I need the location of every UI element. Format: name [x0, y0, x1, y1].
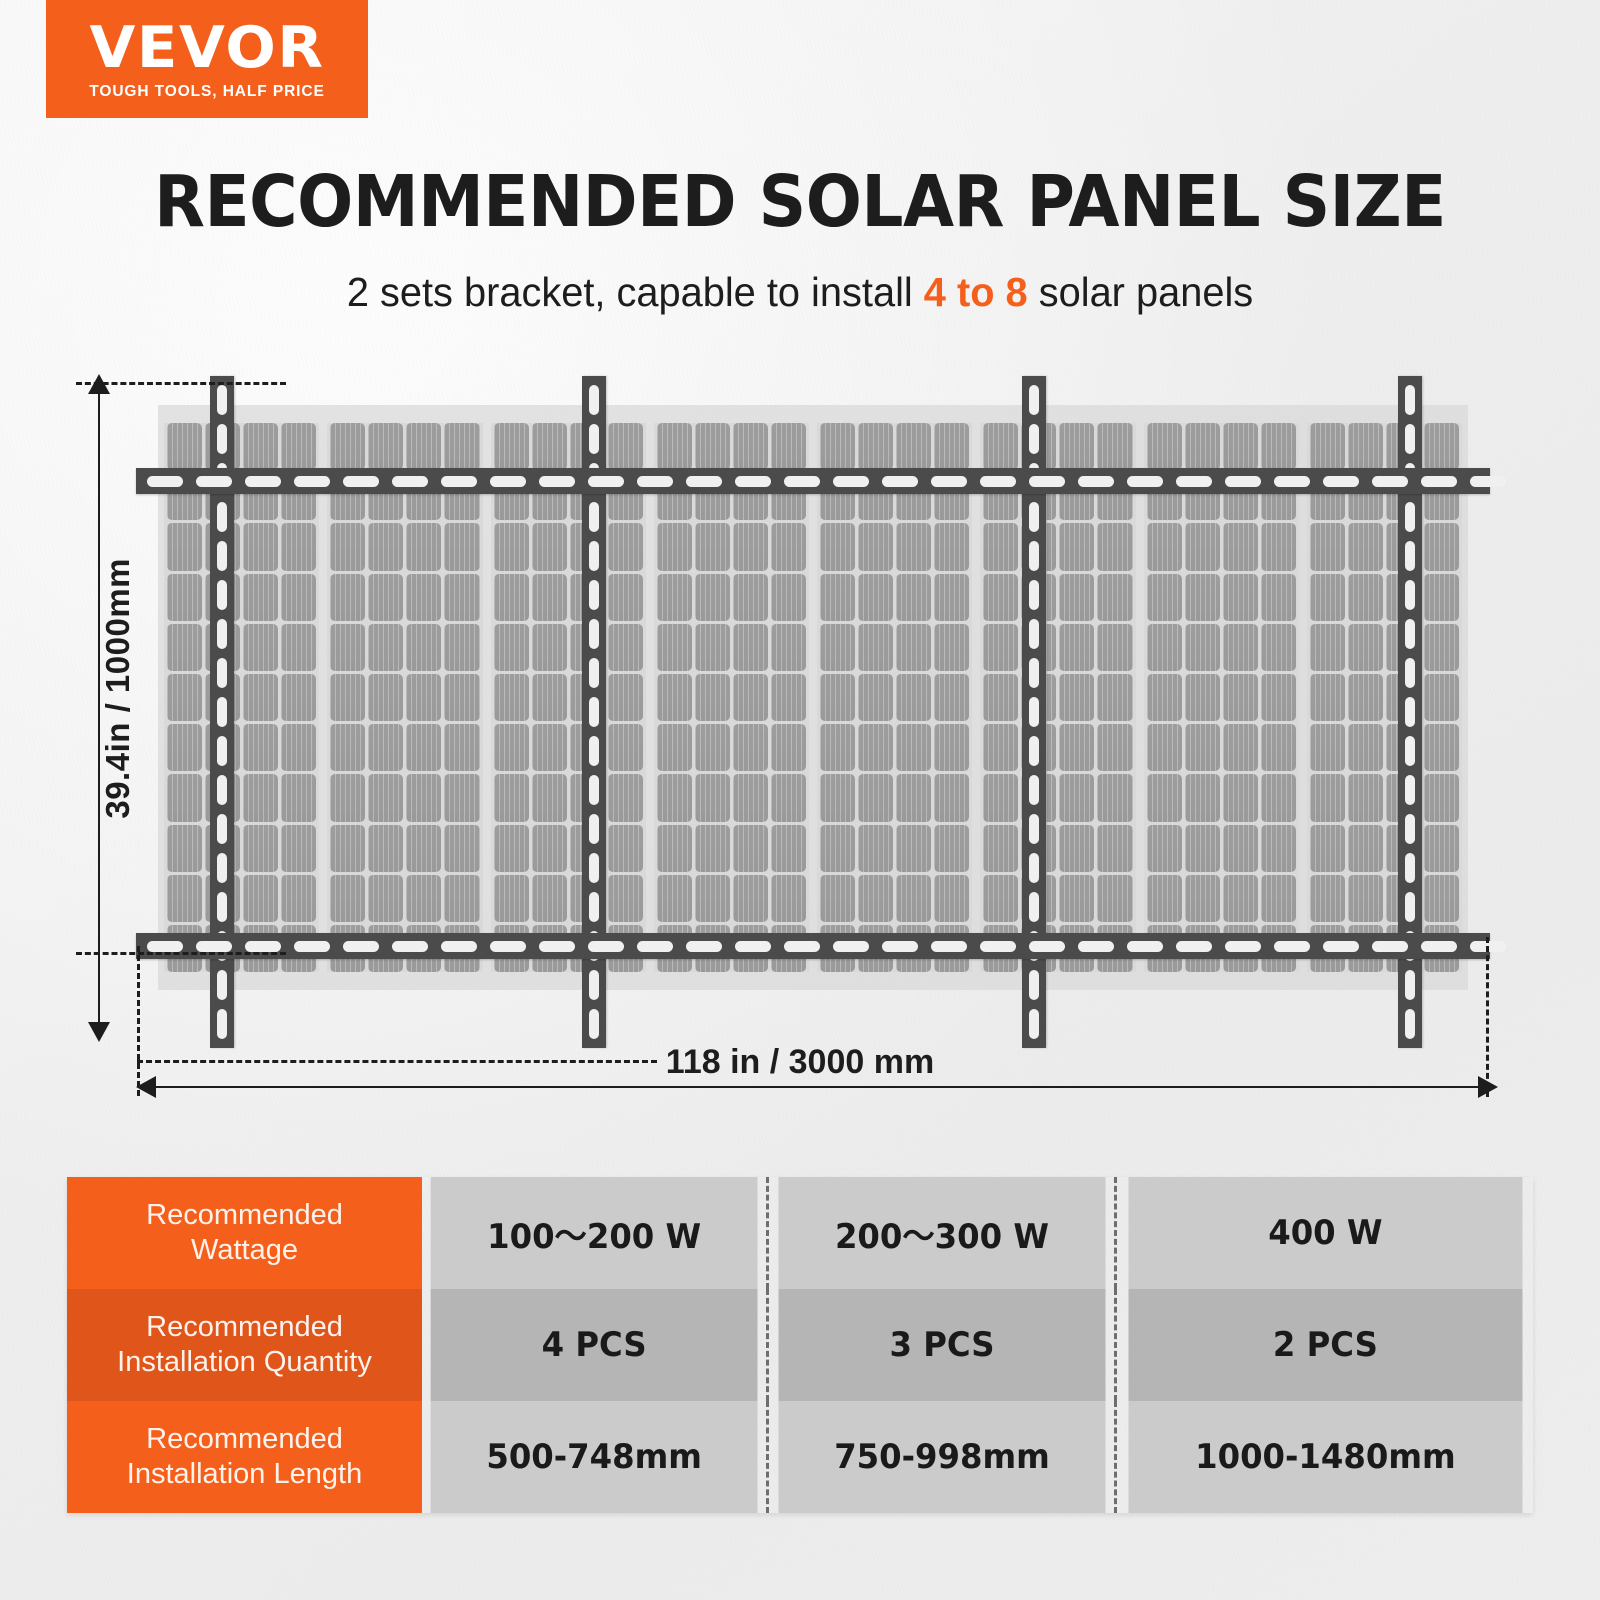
panel-cell	[771, 724, 806, 771]
panel-cell	[1147, 624, 1182, 671]
solar-panel	[1144, 423, 1299, 972]
panel-cell	[771, 774, 806, 821]
panel-cell	[695, 574, 730, 621]
panel-cell	[494, 875, 529, 922]
row-label-line2: Wattage	[191, 1234, 298, 1266]
rail-slot	[686, 476, 722, 487]
solar-panel	[1307, 423, 1462, 972]
rail-slot	[217, 424, 227, 454]
horizontal-rail-top	[136, 468, 1490, 494]
panel-cell	[771, 423, 806, 470]
panel-cell	[695, 624, 730, 671]
rail-slot	[217, 775, 227, 805]
rail-slot	[1405, 697, 1415, 727]
panel-cell	[1147, 523, 1182, 570]
panel-cell	[820, 624, 855, 671]
panel-cell	[406, 423, 441, 470]
panel-cell	[167, 774, 202, 821]
panel-cell	[368, 825, 403, 872]
panel-cell	[444, 774, 479, 821]
panel-cell	[1261, 423, 1296, 470]
panel-cell	[733, 724, 768, 771]
panel-cell-column	[281, 423, 316, 972]
panel-cell	[167, 574, 202, 621]
rail-slot	[589, 775, 599, 805]
panel-cell	[896, 724, 931, 771]
panel-cell	[1424, 774, 1459, 821]
panel-cell-column	[494, 423, 529, 972]
panel-cell	[695, 423, 730, 470]
panel-cell	[771, 624, 806, 671]
panel-cell	[1348, 674, 1383, 721]
panel-cell	[858, 523, 893, 570]
panel-cell	[896, 624, 931, 671]
rail-slot	[784, 476, 820, 487]
panel-cell	[983, 624, 1018, 671]
panel-cell-column	[444, 423, 479, 972]
panel-cell	[444, 624, 479, 671]
rail-slot	[637, 941, 673, 952]
panel-cell	[608, 423, 643, 470]
solar-panel	[817, 423, 972, 972]
panel-cell	[368, 674, 403, 721]
panel-cell	[934, 774, 969, 821]
rail-slot	[589, 853, 599, 883]
panel-cell-column	[608, 423, 643, 972]
panel-cell	[1097, 774, 1132, 821]
horizontal-rail-bottom	[136, 933, 1490, 959]
panel-cell	[896, 423, 931, 470]
rail-slot	[833, 941, 869, 952]
panel-cell	[733, 423, 768, 470]
row-label-line1: Recommended	[146, 1311, 343, 1343]
panel-cell	[330, 825, 365, 872]
panel-cell	[494, 825, 529, 872]
rail-slot	[217, 619, 227, 649]
panel-cell	[983, 523, 1018, 570]
panel-cell	[243, 774, 278, 821]
rail-slot	[539, 941, 575, 952]
panel-cell	[695, 774, 730, 821]
solar-panel	[164, 423, 319, 972]
panel-cell	[657, 774, 692, 821]
panel-cell	[368, 724, 403, 771]
rail-slot	[1225, 941, 1261, 952]
rail-slot	[1405, 424, 1415, 454]
panel-cell	[1059, 724, 1094, 771]
rail-slot	[589, 736, 599, 766]
panel-cell	[820, 724, 855, 771]
rail-slot	[441, 476, 477, 487]
rail-slot	[196, 941, 232, 952]
panel-cell	[733, 774, 768, 821]
panel-cell	[733, 523, 768, 570]
panel-cell	[1097, 523, 1132, 570]
panel-cell	[820, 875, 855, 922]
panel-cell	[1059, 674, 1094, 721]
rail-slot	[1029, 658, 1039, 688]
rail-slot	[1405, 892, 1415, 922]
rail-slot	[1029, 697, 1039, 727]
panel-cell	[532, 624, 567, 671]
panel-cell	[934, 724, 969, 771]
panel-cell	[1097, 875, 1132, 922]
panel-cell-column	[368, 423, 403, 972]
table-row: Recommended Installation Length 500-748m…	[67, 1401, 1533, 1513]
panel-cell	[983, 825, 1018, 872]
panel-cell	[444, 724, 479, 771]
row-label-line1: Recommended	[146, 1199, 343, 1231]
panel-cell	[281, 423, 316, 470]
panel-cell-column	[1223, 423, 1258, 972]
rail-slot	[490, 476, 526, 487]
panel-cell	[695, 825, 730, 872]
panel-cell	[657, 674, 692, 721]
panel-cell	[494, 724, 529, 771]
rail-slot	[589, 619, 599, 649]
panel-cell	[983, 574, 1018, 621]
rail-slot	[637, 476, 673, 487]
rail-slot	[1176, 941, 1212, 952]
panel-cell	[1059, 574, 1094, 621]
rail-slot	[1029, 892, 1039, 922]
panel-cell	[1185, 674, 1220, 721]
panel-cell	[1147, 674, 1182, 721]
panel-cell	[281, 724, 316, 771]
panel-cell-column	[1097, 423, 1132, 972]
panel-cell	[1223, 574, 1258, 621]
panel-cell	[330, 523, 365, 570]
panel-cell	[444, 574, 479, 621]
panel-cell	[1310, 674, 1345, 721]
panel-cell-column	[1310, 423, 1345, 972]
panel-cell	[330, 875, 365, 922]
panel-cell	[532, 724, 567, 771]
panel-cell	[1261, 624, 1296, 671]
page-subtitle: 2 sets bracket, capable to install 4 to …	[24, 272, 1576, 313]
panel-cell	[1348, 624, 1383, 671]
panel-cell	[167, 423, 202, 470]
panel-cell	[983, 674, 1018, 721]
panel-cell	[368, 624, 403, 671]
subtitle-highlight: 4 to 8	[924, 269, 1028, 315]
panel-cell	[494, 423, 529, 470]
rail-slot	[1405, 1009, 1415, 1039]
rail-slot	[589, 697, 599, 727]
rail-slot	[589, 424, 599, 454]
panel-cell	[406, 774, 441, 821]
table-row: Recommended Installation Quantity 4 PCS …	[67, 1289, 1533, 1401]
panel-cell-column	[243, 423, 278, 972]
rail-slot	[1405, 853, 1415, 883]
rail-slot	[1176, 476, 1212, 487]
rail-slot	[931, 941, 967, 952]
rail-slot	[539, 476, 575, 487]
panel-cell	[1185, 774, 1220, 821]
panel-cell	[1261, 523, 1296, 570]
panel-cell	[1348, 724, 1383, 771]
panel-cell	[771, 825, 806, 872]
rail-slot	[1405, 736, 1415, 766]
panel-cell	[733, 624, 768, 671]
panel-cell	[1348, 825, 1383, 872]
panel-cell	[243, 875, 278, 922]
panel-cell	[1147, 423, 1182, 470]
panel-cell-column	[771, 423, 806, 972]
panel-cell	[695, 523, 730, 570]
brand-logo: VEVOR TOUGH TOOLS, HALF PRICE	[46, 0, 368, 118]
panel-cell	[733, 674, 768, 721]
panel-cell	[733, 574, 768, 621]
panel-cell	[934, 674, 969, 721]
rail-slot	[1029, 541, 1039, 571]
subtitle-suffix: solar panels	[1028, 269, 1253, 315]
cell-length-2: 750-998mm	[776, 1401, 1107, 1513]
panel-cell	[983, 774, 1018, 821]
panel-cell	[608, 875, 643, 922]
panel-cell	[896, 674, 931, 721]
panel-cell	[167, 825, 202, 872]
panel-cell	[281, 825, 316, 872]
page-title: RECOMMENDED SOLAR PANEL SIZE	[56, 166, 1544, 237]
panel-cell	[858, 574, 893, 621]
panel-cell	[532, 774, 567, 821]
panel-cell	[243, 724, 278, 771]
rail-slot	[1029, 424, 1039, 454]
panel-cell	[983, 724, 1018, 771]
panel-cell	[934, 523, 969, 570]
panel-cell	[167, 624, 202, 671]
panel-cell	[281, 875, 316, 922]
rail-slot	[589, 502, 599, 532]
rail-slot	[589, 970, 599, 1000]
panel-cell	[406, 523, 441, 570]
panel-cell-column	[896, 423, 931, 972]
rail-slot	[588, 476, 624, 487]
panel-cell	[281, 624, 316, 671]
panel-cell	[1310, 875, 1345, 922]
panel-cell	[1147, 774, 1182, 821]
solar-panel	[491, 423, 646, 972]
panel-cell	[281, 774, 316, 821]
panel-cell	[1310, 624, 1345, 671]
panel-cell	[934, 574, 969, 621]
panel-cell	[243, 624, 278, 671]
panel-cell	[1147, 825, 1182, 872]
panel-cell-column	[934, 423, 969, 972]
panel-cell	[1147, 574, 1182, 621]
rail-slot	[245, 941, 281, 952]
panel-cell	[771, 523, 806, 570]
panel-cell	[858, 674, 893, 721]
panel-cell	[444, 875, 479, 922]
panel-cell-column	[733, 423, 768, 972]
rail-slot	[1323, 476, 1359, 487]
panel-cell	[1223, 423, 1258, 470]
panel-cell	[657, 875, 692, 922]
panel-cell	[695, 724, 730, 771]
panel-cell	[1059, 624, 1094, 671]
panel-cell	[444, 523, 479, 570]
panel-cell	[934, 875, 969, 922]
panel-cell	[1348, 774, 1383, 821]
panel-cell	[657, 825, 692, 872]
panel-cell	[532, 523, 567, 570]
panel-cell	[733, 825, 768, 872]
panel-cell	[281, 574, 316, 621]
rail-slot	[1405, 385, 1415, 415]
rail-slot	[931, 476, 967, 487]
panel-cell	[1097, 724, 1132, 771]
dimension-label-vertical: 39.4in / 1000mm	[96, 448, 140, 928]
rail-slot	[217, 1009, 227, 1039]
rail-slot	[589, 814, 599, 844]
brand-tagline: TOUGH TOOLS, HALF PRICE	[89, 83, 324, 101]
rail-slot	[441, 941, 477, 952]
rail-slot	[589, 892, 599, 922]
panel-cell	[1424, 574, 1459, 621]
panel-cell	[934, 624, 969, 671]
panel-cell	[330, 724, 365, 771]
panel-cell	[1059, 875, 1094, 922]
rail-slot	[980, 941, 1016, 952]
panel-cell-column	[406, 423, 441, 972]
panel-cell	[1348, 423, 1383, 470]
panel-cell	[1059, 774, 1094, 821]
panel-cell	[608, 774, 643, 821]
panel-cell	[406, 624, 441, 671]
rail-slot	[490, 941, 526, 952]
panel-cell	[1261, 774, 1296, 821]
rail-slot	[1405, 658, 1415, 688]
panel-cell	[1147, 724, 1182, 771]
rail-slot	[1078, 941, 1114, 952]
rail-slot	[217, 502, 227, 532]
panel-cell	[1424, 875, 1459, 922]
panel-cell	[1261, 674, 1296, 721]
panel-cell	[657, 523, 692, 570]
panel-cell	[657, 574, 692, 621]
rail-slot	[833, 476, 869, 487]
dimension-arrow-down	[88, 1022, 110, 1042]
rail-slot	[1225, 476, 1261, 487]
rail-slot	[1274, 941, 1310, 952]
panel-cell	[896, 574, 931, 621]
panel-cell	[983, 875, 1018, 922]
panel-cell	[444, 825, 479, 872]
panel-cell	[1185, 574, 1220, 621]
rail-slot	[1405, 580, 1415, 610]
panel-cell	[444, 674, 479, 721]
panel-cell	[1424, 523, 1459, 570]
rail-slot	[1405, 502, 1415, 532]
panel-cell	[494, 774, 529, 821]
panel-cell	[820, 674, 855, 721]
extension-line-bottom	[76, 952, 286, 955]
panel-cell	[1223, 774, 1258, 821]
panel-cell	[1310, 774, 1345, 821]
rail-slot	[1405, 970, 1415, 1000]
rail-slot	[1029, 502, 1039, 532]
cell-wattage-1: 100～200 W	[431, 1177, 759, 1289]
panel-cell	[771, 875, 806, 922]
panel-cell	[1348, 875, 1383, 922]
rail-slot	[980, 476, 1016, 487]
panel-cell	[532, 875, 567, 922]
rail-slot	[245, 476, 281, 487]
row-label-wattage: Recommended Wattage	[67, 1177, 422, 1289]
panel-cell	[167, 523, 202, 570]
rail-slot	[343, 941, 379, 952]
rail-slot	[147, 476, 183, 487]
rail-slot	[217, 736, 227, 766]
rail-slot	[1405, 541, 1415, 571]
panel-cell	[1261, 875, 1296, 922]
rail-slot	[735, 476, 771, 487]
recommendation-table: Recommended Wattage 100～200 W 200～300 W …	[67, 1177, 1533, 1513]
rail-slot	[1029, 941, 1065, 952]
panel-cell	[1223, 825, 1258, 872]
rail-slot	[589, 385, 599, 415]
panel-cell	[406, 574, 441, 621]
rail-slot	[217, 970, 227, 1000]
panel-cell	[1348, 523, 1383, 570]
panel-cell	[820, 423, 855, 470]
rail-slot	[882, 941, 918, 952]
panel-cell	[820, 523, 855, 570]
panel-cell	[1185, 624, 1220, 671]
rail-slot	[1372, 941, 1408, 952]
dimension-line-horizontal	[148, 1086, 1486, 1088]
panel-cell	[896, 523, 931, 570]
panel-cell	[1261, 574, 1296, 621]
panel-cell	[243, 674, 278, 721]
rail-slot	[882, 476, 918, 487]
panel-cell-column	[858, 423, 893, 972]
panel-cell	[608, 674, 643, 721]
rail-slot	[1421, 941, 1457, 952]
rail-slot	[217, 814, 227, 844]
panel-cell	[820, 574, 855, 621]
panel-cell	[858, 825, 893, 872]
rail-slot	[343, 476, 379, 487]
panel-cell	[1310, 423, 1345, 470]
panel-cell	[1310, 724, 1345, 771]
panel-cell-column	[695, 423, 730, 972]
solar-panel-diagram: 39.4in / 1000mm 118 in / 3000 mm	[0, 360, 1600, 1130]
panel-cell	[1185, 523, 1220, 570]
panel-cell	[330, 423, 365, 470]
panel-cell	[1185, 825, 1220, 872]
width-label: 118 in / 3000 mm	[0, 1043, 1600, 1082]
panel-cell-column	[1059, 423, 1094, 972]
rail-slot	[217, 658, 227, 688]
panel-cell	[368, 523, 403, 570]
panel-cell	[243, 825, 278, 872]
rail-slot	[1274, 476, 1310, 487]
cell-length-1: 500-748mm	[431, 1401, 759, 1513]
panel-cell	[1223, 523, 1258, 570]
rail-slot	[1029, 736, 1039, 766]
rail-slot	[784, 941, 820, 952]
panel-cell	[1310, 574, 1345, 621]
panel-cell	[896, 774, 931, 821]
panel-cell	[858, 875, 893, 922]
rail-slot	[735, 941, 771, 952]
rail-slot	[1029, 775, 1039, 805]
subtitle-prefix: 2 sets bracket, capable to install	[347, 269, 924, 315]
panel-cell	[1261, 825, 1296, 872]
